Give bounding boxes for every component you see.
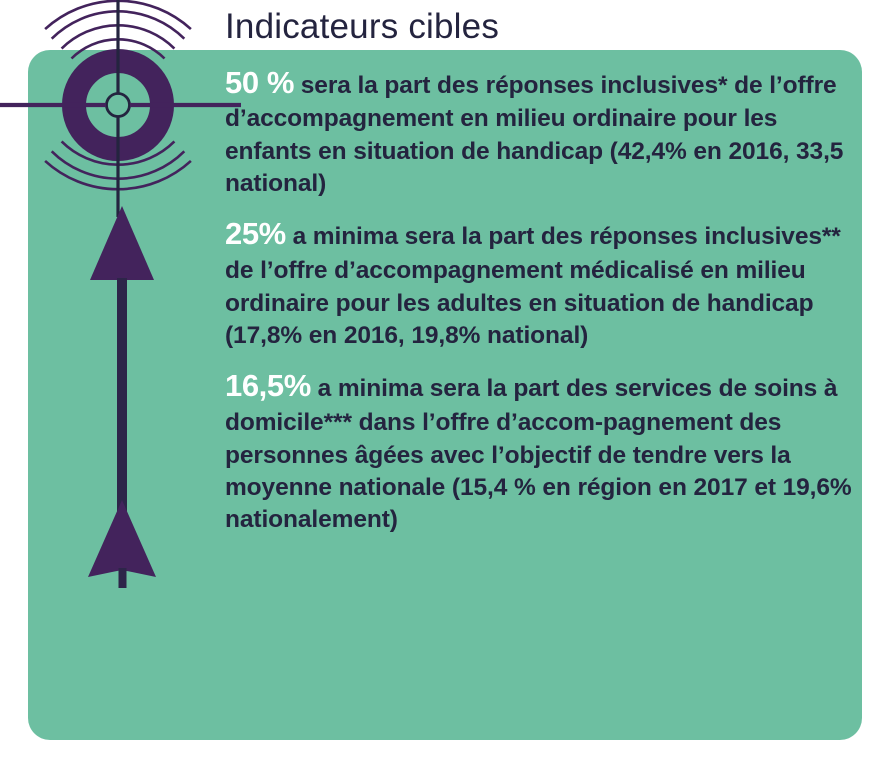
indicator-item-2: 25% a minima sera la part des réponses i… [225, 214, 870, 352]
indicator-item-1: 50 % sera la part des réponses inclusive… [225, 63, 870, 201]
indicator-text-3: a minima sera la part des services de so… [225, 375, 852, 533]
indicator-metric-2: 25% [225, 216, 286, 251]
indicator-text-2: a minima sera la part des réponses inclu… [225, 223, 841, 349]
indicator-text-1: sera la part des réponses inclusives* de… [225, 72, 843, 198]
indicator-item-3: 16,5% a minima sera la part des services… [225, 366, 870, 536]
indicator-metric-3: 16,5% [225, 368, 311, 403]
page-title: Indicateurs cibles [225, 8, 870, 47]
indicators-content: Indicateurs cibles 50 % sera la part des… [225, 8, 870, 537]
indicator-metric-1: 50 % [225, 65, 294, 100]
